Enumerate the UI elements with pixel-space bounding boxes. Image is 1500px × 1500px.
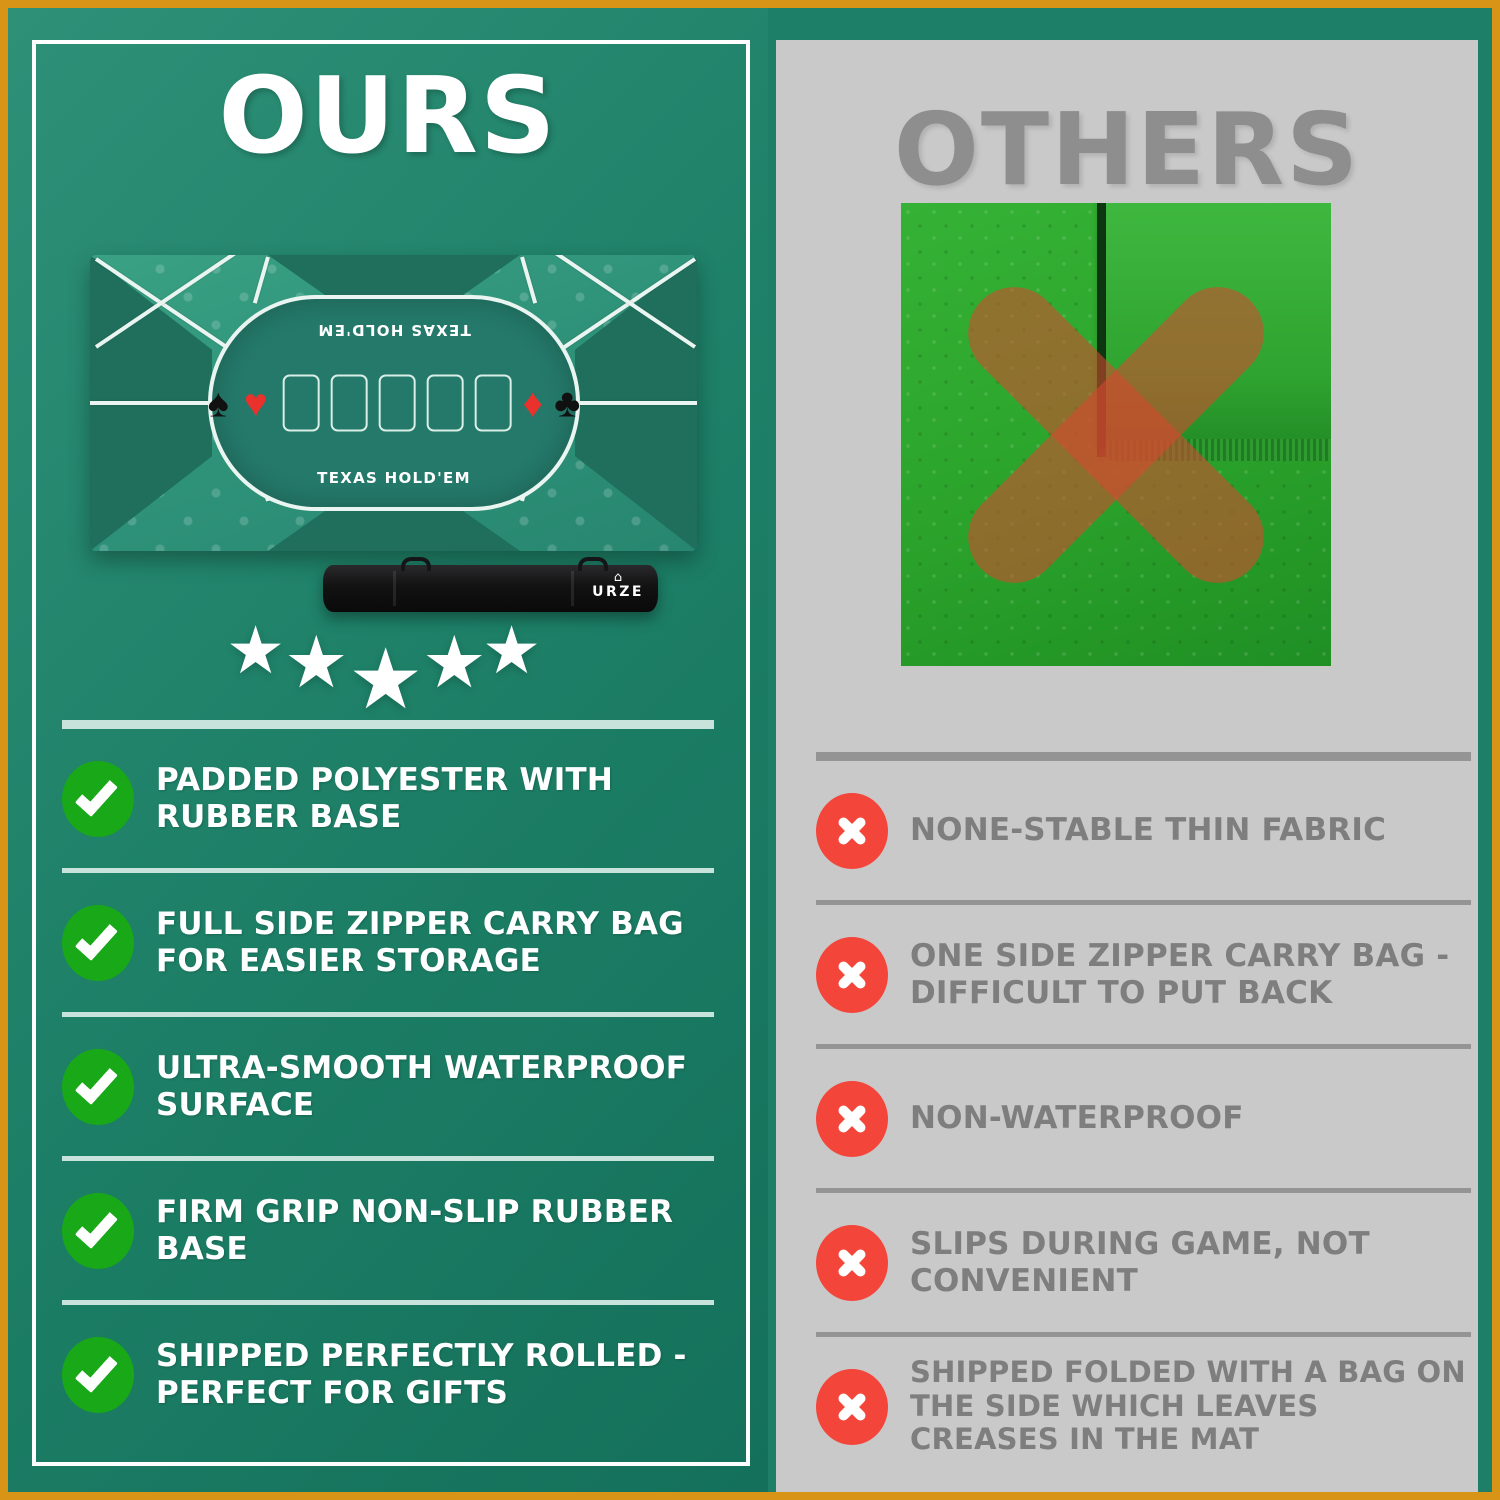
cross-icon (816, 1225, 888, 1301)
urze-logo: ⌂ URZE (592, 571, 644, 600)
club-icon: ♣ (554, 383, 580, 423)
others-feature-list: NONE-STABLE THIN FABRIC ONE SIDE ZIPPER … (816, 752, 1471, 1476)
urze-logo-text: URZE (592, 584, 644, 600)
ours-title: OURS (8, 64, 768, 169)
feature-row: PADDED POLYESTER WITH RUBBER BASE (62, 729, 714, 868)
others-product-photo (901, 203, 1331, 666)
bag-handle-right (578, 557, 608, 571)
feature-text: SLIPS DURING GAME, NOT CONVENIENT (910, 1226, 1471, 1299)
feature-text: SHIPPED PERFECTLY ROLLED - PERFECT FOR G… (156, 1338, 714, 1411)
star-icon: ★ (422, 627, 487, 699)
others-background: OTHERS NONE-STABLE THIN FABRIC (776, 40, 1478, 1492)
cross-icon (816, 793, 888, 869)
card-slot (427, 375, 464, 432)
feature-text: NON-WATERPROOF (910, 1100, 1244, 1136)
mat-ray-left-mid (90, 401, 212, 405)
star-icon: ★ (348, 637, 423, 721)
diamond-icon: ♦ (523, 383, 543, 423)
feature-row: ONE SIDE ZIPPER CARRY BAG - DIFFICULT TO… (816, 905, 1471, 1044)
feature-row: SHIPPED PERFECTLY ROLLED - PERFECT FOR G… (62, 1305, 714, 1444)
feature-text: SHIPPED FOLDED WITH A BAG ON THE SIDE WH… (910, 1356, 1471, 1458)
feature-text: ULTRA-SMOOTH WATERPROOF SURFACE (156, 1050, 714, 1123)
feature-row: NON-WATERPROOF (816, 1049, 1471, 1188)
card-slot (331, 375, 368, 432)
feature-text: FIRM GRIP NON-SLIP RUBBER BASE (156, 1194, 714, 1267)
card-slot (475, 375, 512, 432)
feature-text: PADDED POLYESTER WITH RUBBER BASE (156, 762, 714, 835)
panels-container: OURS TEXAS HOLD'EM (8, 8, 1492, 1492)
mat-label-top: TEXAS HOLD'EM (212, 321, 576, 339)
cross-icon (816, 1081, 888, 1157)
feature-row: SHIPPED FOLDED WITH A BAG ON THE SIDE WH… (816, 1337, 1471, 1476)
comparison-infographic: OURS TEXAS HOLD'EM (0, 0, 1500, 1500)
star-rating: ★ ★ ★ ★ ★ (226, 613, 536, 708)
bag-seam (393, 571, 396, 606)
star-icon: ★ (226, 617, 285, 683)
feature-row: NONE-STABLE THIN FABRIC (816, 761, 1471, 900)
feature-text: FULL SIDE ZIPPER CARRY BAG FOR EASIER ST… (156, 906, 714, 979)
feature-row: SLIPS DURING GAME, NOT CONVENIENT (816, 1193, 1471, 1332)
feature-text: ONE SIDE ZIPPER CARRY BAG - DIFFICULT TO… (910, 938, 1471, 1011)
check-icon (62, 905, 134, 981)
star-icon: ★ (482, 617, 541, 683)
poker-mat-image: TEXAS HOLD'EM ♠ ♥ ♦ ♣ TEXAS HOLD'EM (90, 255, 697, 551)
mat-label-bottom: TEXAS HOLD'EM (212, 469, 576, 487)
urze-logo-mark: ⌂ (592, 571, 644, 584)
check-icon (62, 1337, 134, 1413)
mat-card-row: ♠ ♥ ♦ ♣ (208, 375, 581, 432)
mat-table-area: TEXAS HOLD'EM ♠ ♥ ♦ ♣ TEXAS HOLD'EM (208, 295, 580, 511)
others-panel: OTHERS NONE-STABLE THIN FABRIC (768, 8, 1492, 1492)
feature-text: NONE-STABLE THIN FABRIC (910, 812, 1386, 848)
others-title: OTHERS (776, 100, 1478, 200)
spade-icon: ♠ (208, 383, 229, 423)
cross-icon (816, 937, 888, 1013)
bag-seam (571, 571, 574, 606)
divider (62, 720, 714, 729)
feature-row: FIRM GRIP NON-SLIP RUBBER BASE (62, 1161, 714, 1300)
bag-handle-left (401, 557, 431, 571)
feature-row: FULL SIDE ZIPPER CARRY BAG FOR EASIER ST… (62, 873, 714, 1012)
carry-bag-image: ⌂ URZE (323, 565, 658, 612)
check-icon (62, 761, 134, 837)
ours-panel: OURS TEXAS HOLD'EM (8, 8, 768, 1492)
star-icon: ★ (284, 627, 349, 699)
check-icon (62, 1049, 134, 1125)
divider (816, 752, 1471, 761)
cross-icon (816, 1369, 888, 1445)
mat-ray-right-mid (575, 401, 697, 405)
heart-icon: ♥ (244, 383, 268, 423)
feature-row: ULTRA-SMOOTH WATERPROOF SURFACE (62, 1017, 714, 1156)
card-slot (379, 375, 416, 432)
check-icon (62, 1193, 134, 1269)
ours-feature-list: PADDED POLYESTER WITH RUBBER BASE FULL S… (62, 720, 714, 1444)
card-slot (283, 375, 320, 432)
x-overlay-icon (901, 203, 1331, 666)
